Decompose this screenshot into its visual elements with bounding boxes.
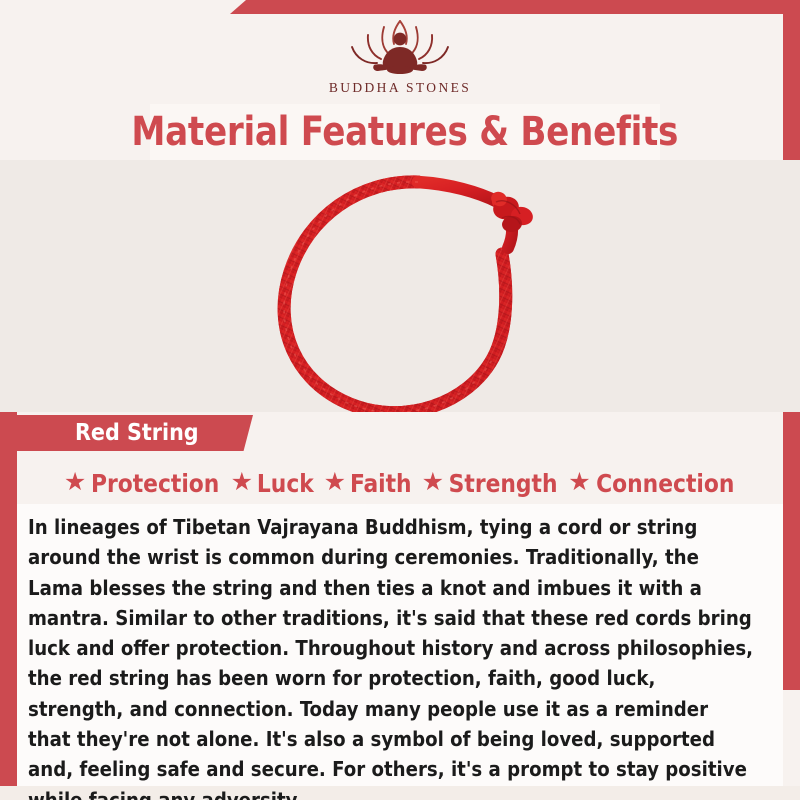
page-title-band: Material Features & Benefits (150, 104, 660, 160)
star-icon: ★ (64, 470, 86, 495)
star-icon: ★ (231, 470, 253, 495)
product-photo-area (0, 160, 800, 412)
star-icon: ★ (568, 470, 590, 495)
star-icon: ★ (324, 470, 346, 495)
description-text: In lineages of Tibetan Vajrayana Buddhis… (28, 512, 754, 800)
benefit-item-strength: ★ Strength (422, 469, 560, 498)
description-panel: In lineages of Tibetan Vajrayana Buddhis… (17, 504, 783, 786)
benefit-item-luck: ★ Luck (231, 469, 315, 498)
brand-wordmark: BUDDHA STONES (329, 80, 471, 96)
material-name-banner: Red String (17, 415, 253, 451)
benefit-item-connection: ★ Connection (568, 469, 736, 498)
brand-header: BUDDHA STONES (0, 0, 800, 104)
benefit-label: Faith (350, 469, 412, 498)
benefit-item-faith: ★ Faith (324, 469, 413, 498)
star-icon: ★ (422, 470, 444, 495)
benefit-label: Connection (596, 469, 734, 498)
red-string-bracelet-image (250, 168, 570, 412)
brand-logo: BUDDHA STONES (329, 13, 471, 96)
benefits-list: ★ Protection ★ Luck ★ Faith ★ Strength ★… (17, 462, 783, 504)
material-name-label: Red String (75, 420, 199, 446)
benefit-label: Luck (257, 469, 314, 498)
benefit-label: Protection (91, 469, 219, 498)
page-title: Material Features & Benefits (132, 109, 679, 155)
benefit-label: Strength (449, 469, 558, 498)
benefit-item-protection: ★ Protection (64, 469, 222, 498)
infographic-card: BUDDHA STONES Material Features & Benefi… (0, 0, 800, 800)
lotus-meditation-figure-icon (336, 13, 464, 79)
